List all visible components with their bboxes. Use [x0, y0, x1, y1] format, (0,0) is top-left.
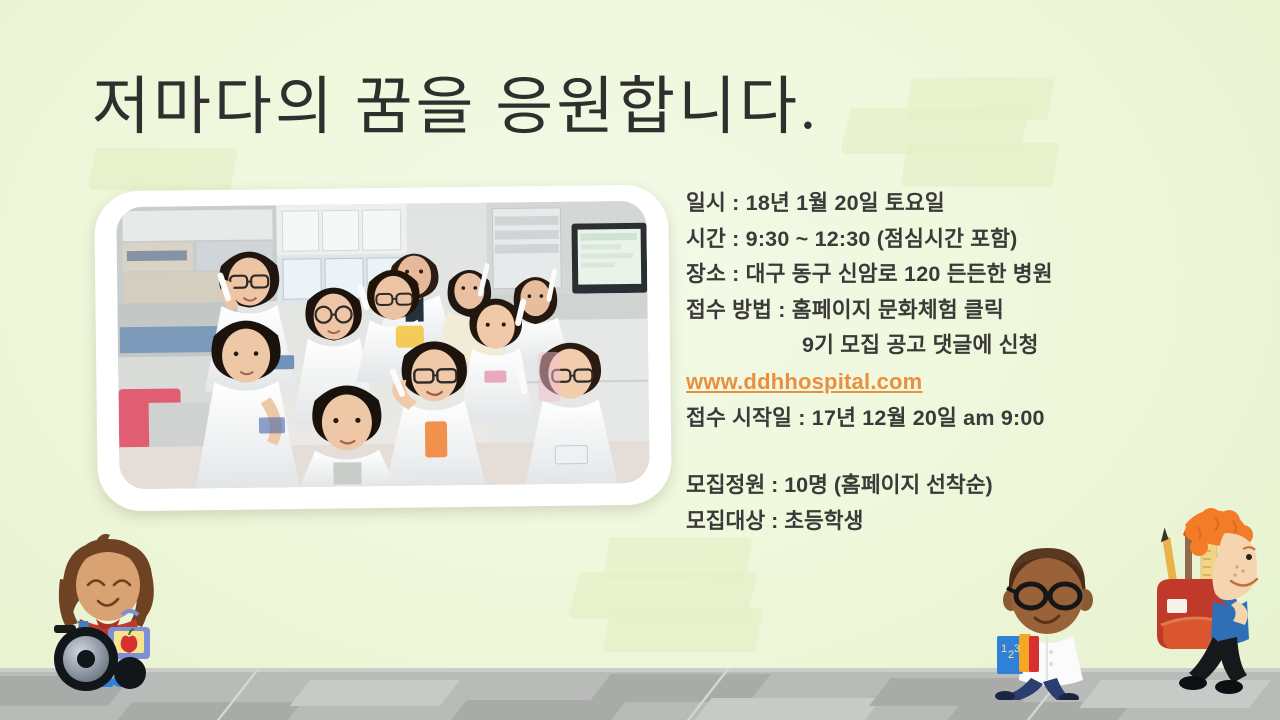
- detail-method-note: 9기 모집 공고 댓글에 신청: [686, 328, 1246, 364]
- slide-canvas: 저마다의 꿈을 응원합니다.: [0, 0, 1280, 720]
- event-photo: [116, 201, 649, 489]
- ground-tile: [108, 702, 301, 720]
- detail-capacity: 모집정원 : 10명 (홈페이지 선착순): [686, 468, 1246, 504]
- ground-tile: [290, 680, 460, 706]
- detail-registration-open: 접수 시작일 : 17년 12월 20일 am 9:00: [686, 401, 1246, 437]
- website-link[interactable]: www.ddhhospital.com: [686, 364, 922, 400]
- website-link-row: www.ddhhospital.com: [686, 364, 1246, 401]
- girl-in-wheelchair: [30, 533, 210, 693]
- svg-text:1: 1: [1001, 643, 1007, 655]
- girl-wheelchair-illustration: [30, 533, 210, 693]
- boy-books-illustration: 1 2 3: [995, 540, 1125, 700]
- decor-brick: [603, 608, 763, 652]
- decor-brick: [900, 143, 1060, 187]
- svg-text:3: 3: [1014, 643, 1020, 655]
- detail-date: 일시 : 18년 1월 20일 토요일: [686, 186, 1246, 222]
- decor-brick: [88, 148, 238, 190]
- page-title: 저마다의 꿈을 응원합니다.: [92, 74, 819, 140]
- ground-tile: [443, 700, 626, 720]
- photo-illustration: [116, 201, 649, 489]
- boy-with-books: 1 2 3: [995, 540, 1125, 700]
- event-details: 일시 : 18년 1월 20일 토요일 시간 : 9:30 ~ 12:30 (점…: [686, 186, 1246, 436]
- ground-tile: [688, 698, 881, 720]
- detail-time: 시간 : 9:30 ~ 12:30 (점심시간 포함): [686, 222, 1246, 258]
- detail-method: 접수 방법 : 홈페이지 문화체험 클릭: [686, 293, 1246, 329]
- boy-with-backpack: [1125, 505, 1270, 700]
- detail-place: 장소 : 대구 동구 신암로 120 든든한 병원: [686, 257, 1246, 293]
- photo-frame: [94, 185, 672, 512]
- boy-backpack-illustration: [1125, 505, 1270, 700]
